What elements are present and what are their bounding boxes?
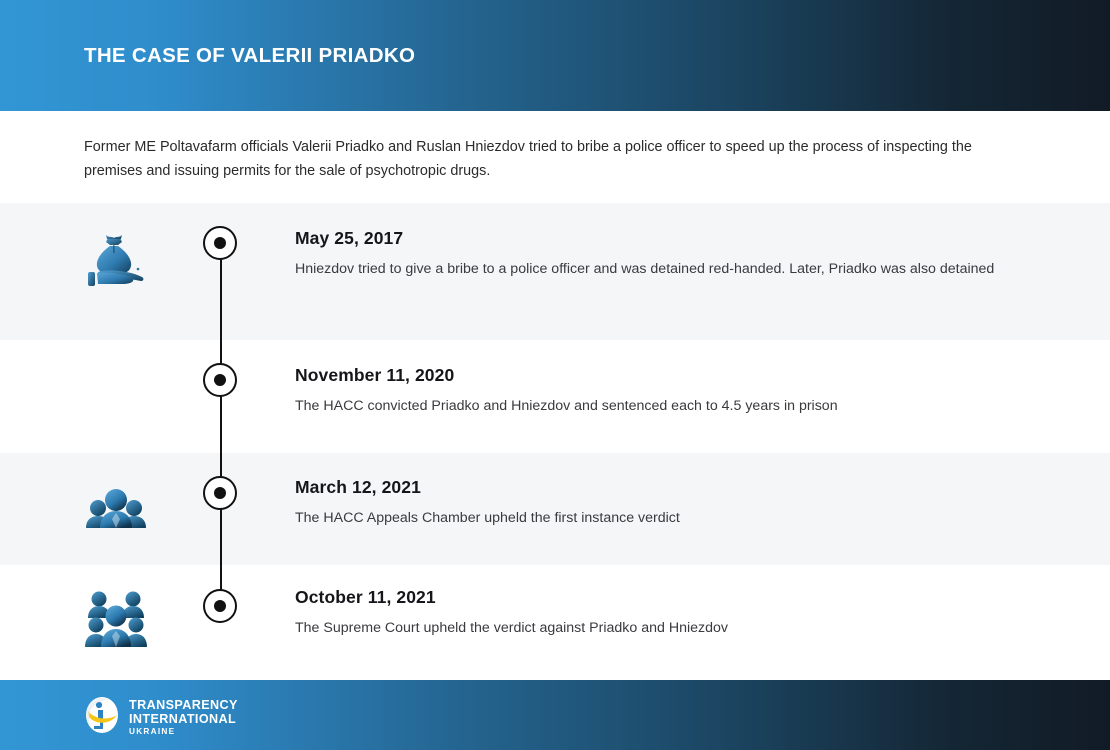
ti-person-globe-icon <box>84 696 120 739</box>
timeline-row: March 12, 2021 The HACC Appeals Chamber … <box>0 453 1110 565</box>
timeline-date: May 25, 2017 <box>295 228 1055 249</box>
logo-wordmark: TRANSPARENCY INTERNATIONAL UKRAINE <box>129 699 238 736</box>
timeline-row-text: May 25, 2017 Hniezdov tried to give a br… <box>295 228 1055 281</box>
footer-banner: TRANSPARENCY INTERNATIONAL UKRAINE <box>0 680 1110 750</box>
timeline-description: The Supreme Court upheld the verdict aga… <box>295 617 1055 640</box>
timeline-row-text: November 11, 2020 The HACC convicted Pri… <box>295 365 1055 418</box>
timeline-marker <box>203 589 237 623</box>
timeline-row: October 11, 2021 The Supreme Court uphel… <box>0 565 1110 680</box>
timeline-date: November 11, 2020 <box>295 365 1055 386</box>
timeline-row-text: March 12, 2021 The HACC Appeals Chamber … <box>295 477 1055 530</box>
header-banner: THE CASE OF VALERII PRIADKO <box>0 0 1110 111</box>
timeline-connector-line <box>220 243 222 606</box>
page-title: THE CASE OF VALERII PRIADKO <box>84 44 415 68</box>
timeline-row-text: October 11, 2021 The Supreme Court uphel… <box>295 587 1055 640</box>
timeline-row: November 11, 2020 The HACC convicted Pri… <box>0 340 1110 453</box>
logo-line-international: INTERNATIONAL <box>129 713 238 726</box>
timeline-marker <box>203 226 237 260</box>
five-people-group-icon <box>84 587 148 651</box>
timeline-date: March 12, 2021 <box>295 477 1055 498</box>
timeline-description: The HACC Appeals Chamber upheld the firs… <box>295 507 1055 530</box>
timeline-spine <box>220 203 222 680</box>
timeline-description: Hniezdov tried to give a bribe to a poli… <box>295 258 1055 281</box>
logo-line-ukraine: UKRAINE <box>129 728 238 736</box>
intro-paragraph: Former ME Poltavafarm officials Valerii … <box>84 135 1014 183</box>
transparency-international-logo: TRANSPARENCY INTERNATIONAL UKRAINE <box>84 696 238 739</box>
timeline-date: October 11, 2021 <box>295 587 1055 608</box>
hand-money-bag-icon <box>84 228 148 298</box>
timeline-row: May 25, 2017 Hniezdov tried to give a br… <box>0 203 1110 340</box>
timeline-marker <box>203 363 237 397</box>
three-people-group-icon <box>84 477 148 537</box>
timeline-description: The HACC convicted Priadko and Hniezdov … <box>295 395 1055 418</box>
infographic-page: THE CASE OF VALERII PRIADKO Former ME Po… <box>0 0 1110 750</box>
timeline-marker <box>203 476 237 510</box>
logo-line-transparency: TRANSPARENCY <box>129 699 238 712</box>
timeline-rows: May 25, 2017 Hniezdov tried to give a br… <box>0 203 1110 680</box>
